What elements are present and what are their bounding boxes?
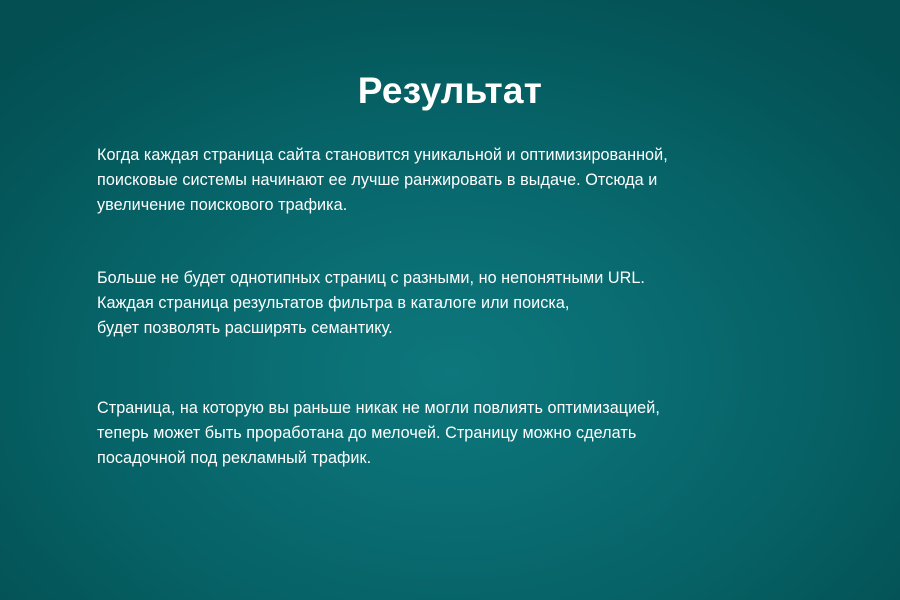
- paragraph-2-line-2: Каждая страница результатов фильтра в ка…: [97, 291, 827, 316]
- paragraph-2-line-1: Больше не будет однотипных страниц с раз…: [97, 266, 827, 291]
- paragraph-3-line-2: теперь может быть проработана до мелочей…: [97, 421, 827, 446]
- paragraph-1: Когда каждая страница сайта становится у…: [97, 143, 827, 218]
- paragraph-3-line-3: посадочной под рекламный трафик.: [97, 446, 827, 471]
- slide-body: Когда каждая страница сайта становится у…: [97, 136, 827, 471]
- page-title: Результат: [0, 69, 900, 113]
- paragraph-2: Больше не будет однотипных страниц с раз…: [97, 266, 827, 341]
- paragraph-2-line-3: будет позволять расширять семантику.: [97, 316, 827, 341]
- paragraph-3-line-1: Страница, на которую вы раньше никак не …: [97, 396, 827, 421]
- paragraph-1-line-2: поисковые системы начинают ее лучше ранж…: [97, 168, 827, 193]
- paragraph-3: Страница, на которую вы раньше никак не …: [97, 396, 827, 471]
- presentation-slide: Результат Когда каждая страница сайта ст…: [0, 0, 900, 600]
- paragraph-1-line-1: Когда каждая страница сайта становится у…: [97, 143, 827, 168]
- paragraph-1-line-3: увеличение поискового трафика.: [97, 193, 827, 218]
